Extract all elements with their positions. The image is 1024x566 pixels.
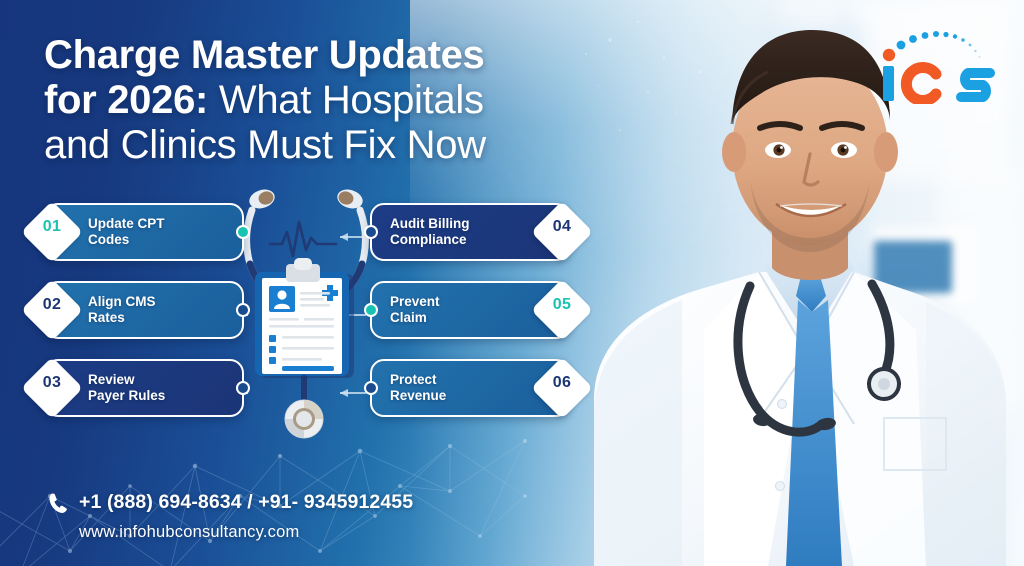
connector-knob	[364, 225, 378, 239]
website-url[interactable]: www.infohubconsultancy.com	[79, 523, 413, 542]
step-label: Update CPT Codes	[88, 216, 165, 247]
step-number: 01	[30, 205, 74, 249]
connector-knob	[236, 303, 250, 317]
connector-knob	[236, 225, 250, 239]
connector-knob	[364, 381, 378, 395]
contact-block: +1 (888) 694-8634 / +91- 9345912455 www.…	[48, 491, 413, 542]
step-label: Protect Revenue	[390, 372, 446, 403]
headline-line-1: Charge Master Updates	[44, 33, 644, 78]
headline: Charge Master Updates for 2026: What Hos…	[44, 33, 644, 169]
connector-knob	[236, 381, 250, 395]
step-badge-05[interactable]: Prevent Claim 05	[370, 281, 570, 339]
connector-knob	[364, 303, 378, 317]
phone-row: +1 (888) 694-8634 / +91- 9345912455	[48, 491, 413, 514]
steps-right-column: Audit Billing Compliance 04 Prevent Clai…	[370, 203, 570, 437]
step-label: Review Payer Rules	[88, 372, 165, 403]
step-label: Audit Billing Compliance	[390, 216, 469, 247]
headline-line-2-strong: for 2026:	[44, 78, 208, 122]
steps-left-column: 01 Update CPT Codes 02 Align CMS Rates 0…	[44, 203, 244, 437]
headline-line-2-light: What Hospitals	[208, 78, 484, 122]
marketing-banner: Charge Master Updates for 2026: What Hos…	[0, 0, 1024, 566]
headline-line-2: for 2026: What Hospitals	[44, 78, 644, 123]
ics-logo[interactable]	[878, 28, 996, 104]
step-badge-06[interactable]: Protect Revenue 06	[370, 359, 570, 417]
phone-number[interactable]: +1 (888) 694-8634 / +91- 9345912455	[79, 491, 413, 514]
step-number: 05	[540, 283, 584, 327]
step-number: 04	[540, 205, 584, 249]
step-number: 02	[30, 283, 74, 327]
step-label: Prevent Claim	[390, 294, 440, 325]
step-badge-01[interactable]: 01 Update CPT Codes	[44, 203, 244, 261]
step-badge-02[interactable]: 02 Align CMS Rates	[44, 281, 244, 339]
step-number: 06	[540, 361, 584, 405]
phone-icon	[48, 492, 68, 514]
steps-group: 01 Update CPT Codes 02 Align CMS Rates 0…	[0, 203, 560, 438]
step-number: 03	[30, 361, 74, 405]
headline-line-3: and Clinics Must Fix Now	[44, 123, 644, 168]
step-badge-04[interactable]: Audit Billing Compliance 04	[370, 203, 570, 261]
step-badge-03[interactable]: 03 Review Payer Rules	[44, 359, 244, 417]
step-label: Align CMS Rates	[88, 294, 156, 325]
